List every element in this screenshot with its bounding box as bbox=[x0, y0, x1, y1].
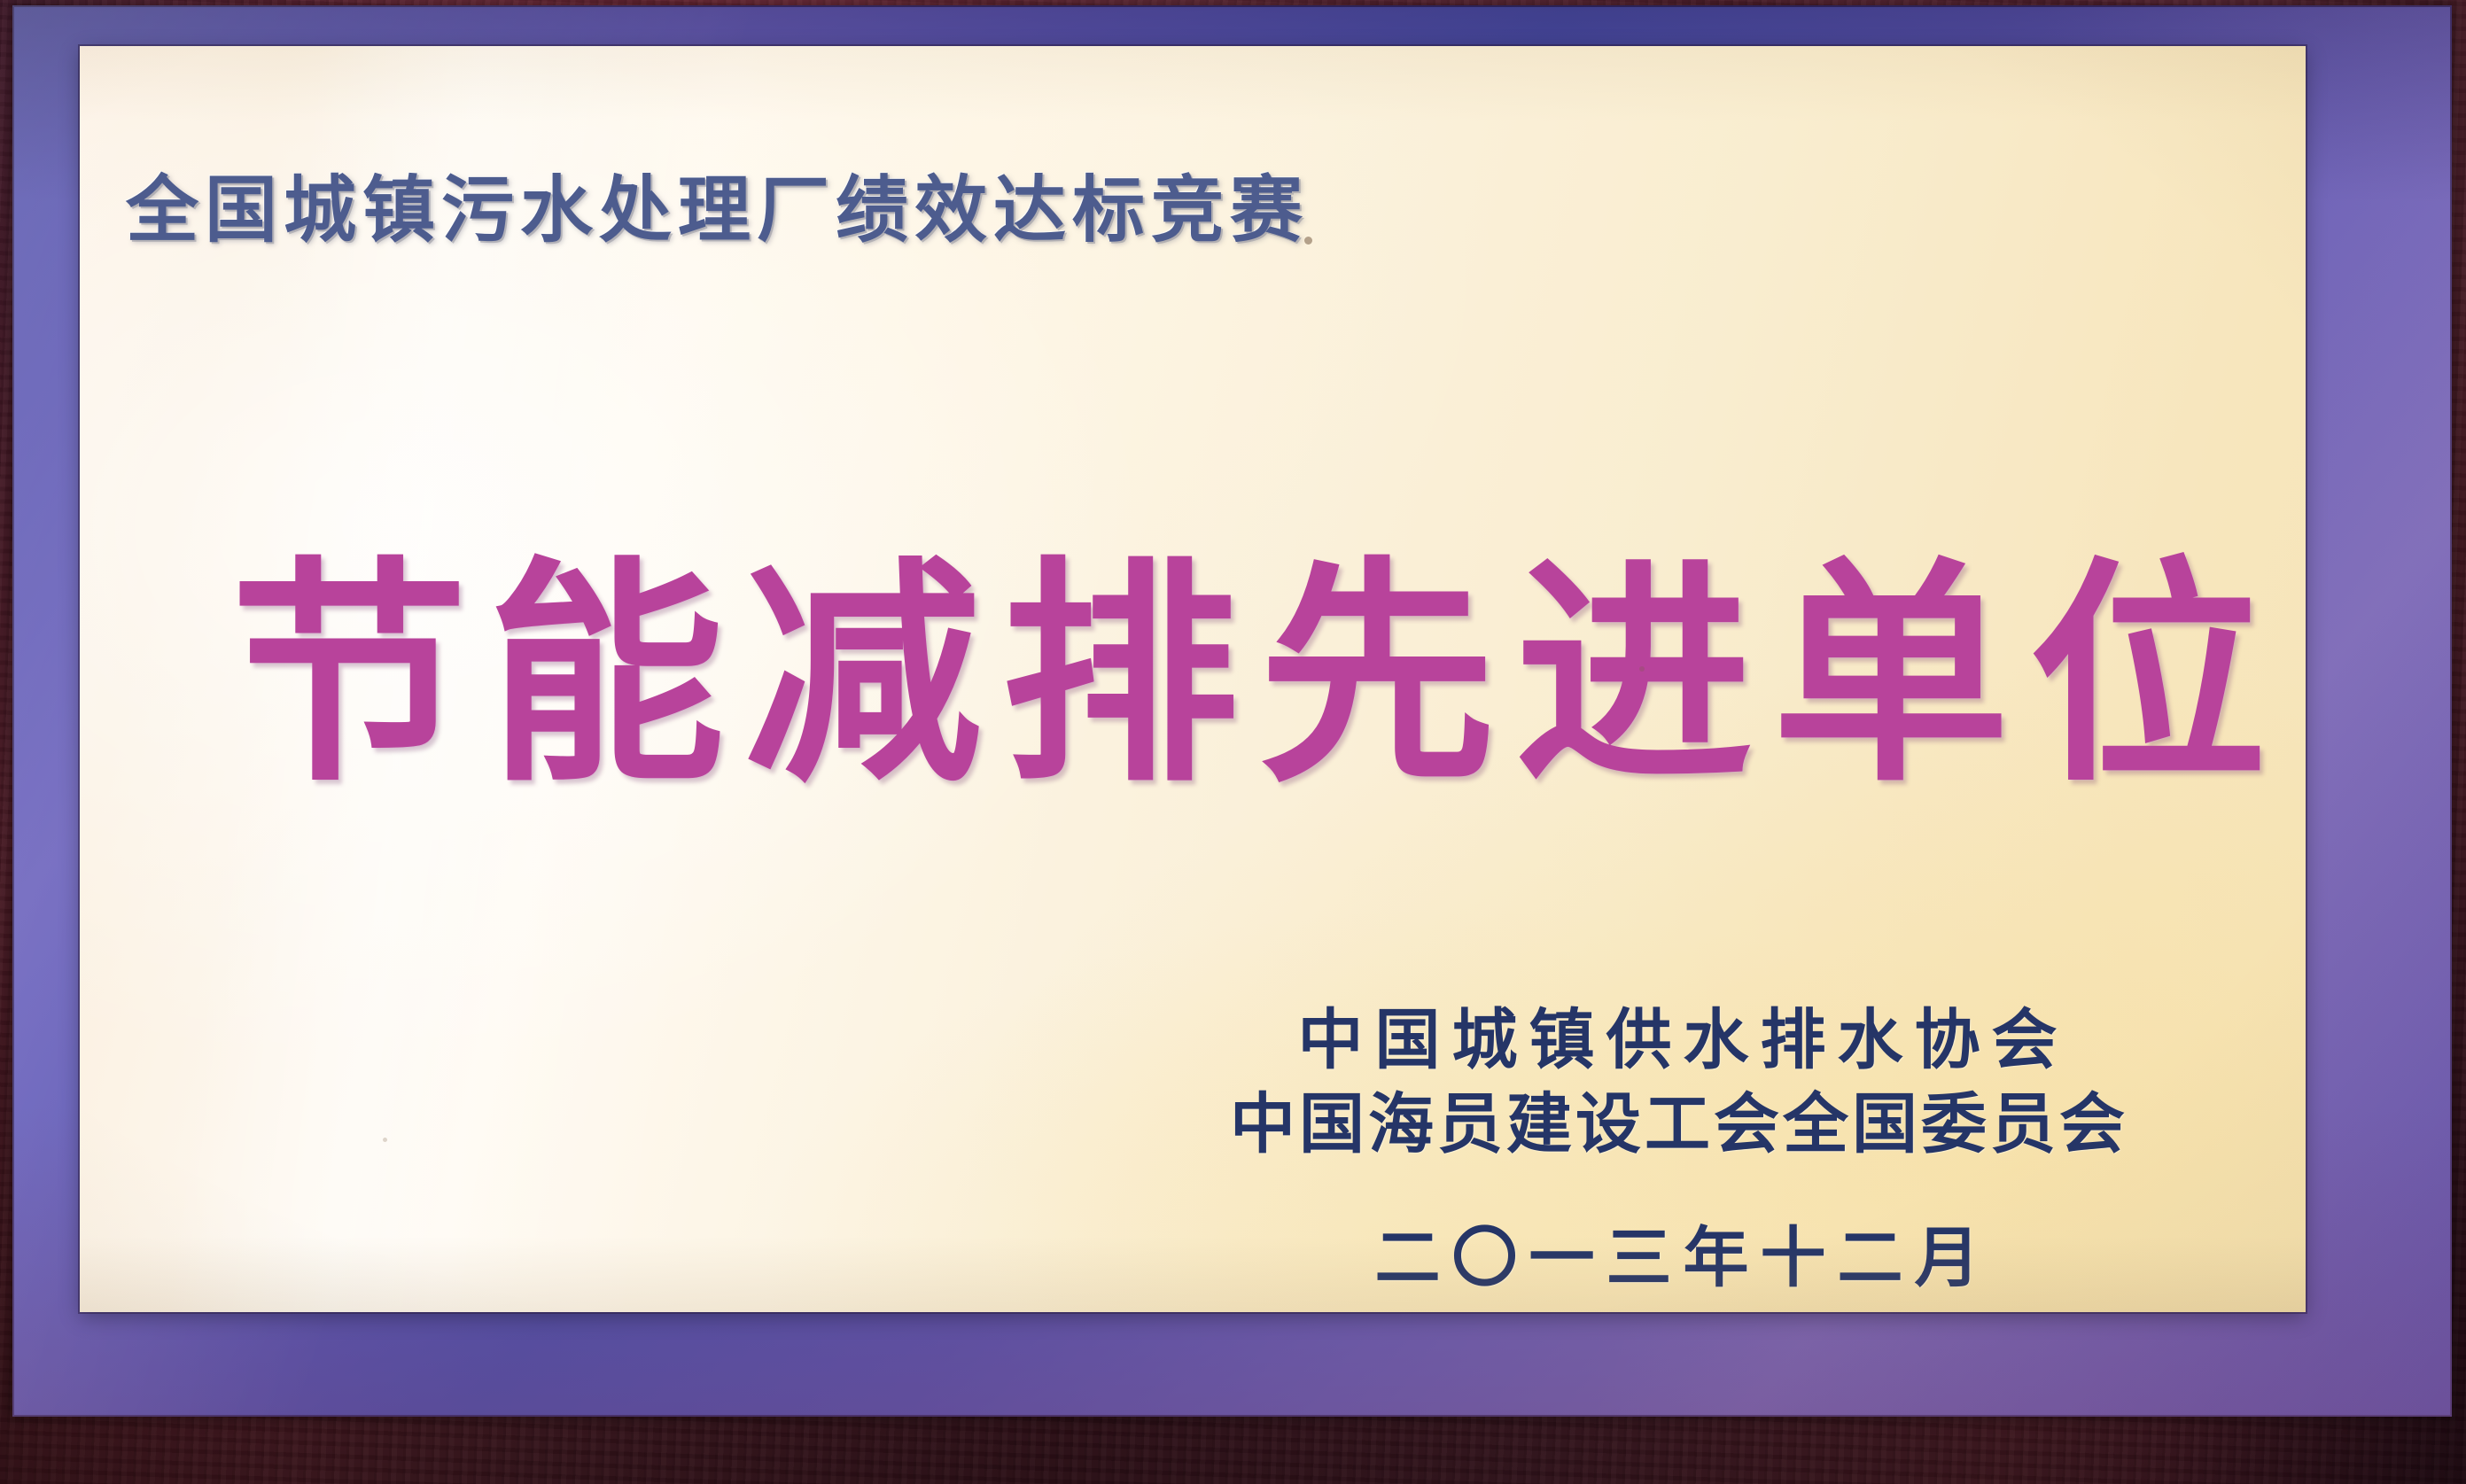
competition-header: 全国城镇污水处理厂绩效达标竞赛 bbox=[126, 151, 1309, 256]
issuer-block: 中国城镇供水排水协会 中国海员建设工会全国委员会 二〇一三年十二月 bbox=[1226, 998, 2128, 1300]
issuer-organization-1: 中国城镇供水排水协会 bbox=[1226, 998, 2128, 1083]
award-plaque: 全国城镇污水处理厂绩效达标竞赛 节能减排先进单位 中国城镇供水排水协会 中国海员… bbox=[0, 0, 2466, 1484]
issuer-organization-2: 中国海员建设工会全国委员会 bbox=[1226, 1083, 2128, 1167]
plaque-face: 全国城镇污水处理厂绩效达标竞赛 节能减排先进单位 中国城镇供水排水协会 中国海员… bbox=[80, 46, 2306, 1312]
award-title: 节能减排先进单位 bbox=[230, 556, 2268, 797]
issue-date: 二〇一三年十二月 bbox=[1226, 1205, 2128, 1300]
plaque-content: 全国城镇污水处理厂绩效达标竞赛 节能减排先进单位 中国城镇供水排水协会 中国海员… bbox=[80, 46, 2306, 1312]
